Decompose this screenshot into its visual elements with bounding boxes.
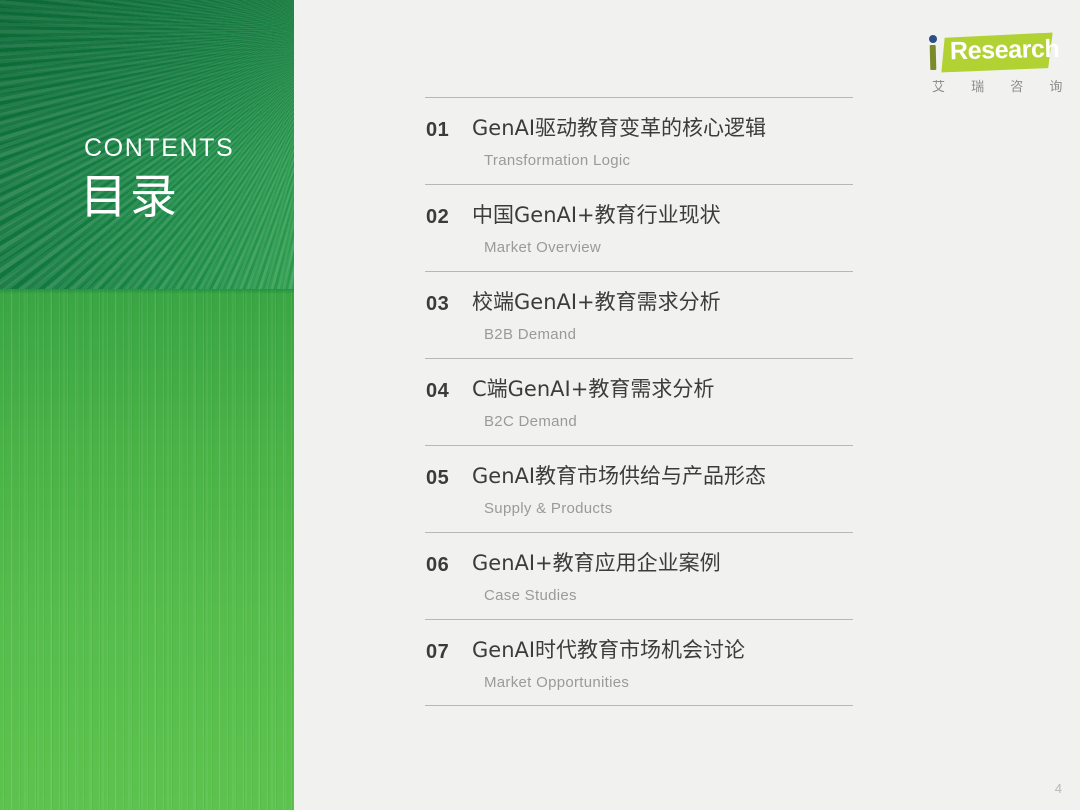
contents-title-en: CONTENTS [84,136,234,161]
panel-heading-group: CONTENTS 目录 [84,136,234,221]
logo-wordmark: Research [950,37,1060,64]
slide-canvas: CONTENTS 目录 Research 艾 瑞 咨 询 01 GenAI驱动教… [0,0,1080,810]
contents-title-cn: 目录 [80,174,234,221]
toc-item-title-cn: GenAI时代教育市场机会讨论 [472,637,745,663]
toc-item-title-en: Case Studies [484,588,577,603]
toc-item-number: 06 [426,555,449,575]
toc-item-title-cn: C端GenAI+教育需求分析 [472,376,714,402]
toc-item-01[interactable]: 01 GenAI驱动教育变革的核心逻辑 Transformation Logic [425,97,853,184]
panel-seam-shadow [0,289,294,294]
toc-item-number: 04 [426,381,449,401]
vertical-stripes-pattern-secondary [0,289,294,810]
toc-item-title-cn: 中国GenAI+教育行业现状 [472,202,721,228]
toc-item-title-en: Transformation Logic [484,153,630,168]
page-number: 4 [1055,781,1062,796]
toc-item-number: 07 [426,642,449,662]
toc-item-05[interactable]: 05 GenAI教育市场供给与产品形态 Supply & Products [425,445,853,532]
toc-item-title-cn: GenAI+教育应用企业案例 [472,550,721,576]
iresearch-logo: Research 艾 瑞 咨 询 [924,32,1052,100]
table-of-contents: 01 GenAI驱动教育变革的核心逻辑 Transformation Logic… [425,97,853,706]
logo-mark: Research [924,32,1052,74]
toc-item-title-cn: 校端GenAI+教育需求分析 [472,289,721,315]
toc-item-06[interactable]: 06 GenAI+教育应用企业案例 Case Studies [425,532,853,619]
toc-item-02[interactable]: 02 中国GenAI+教育行业现状 Market Overview [425,184,853,271]
panel-bottom-bright-green [0,289,294,810]
logo-subtitle-cn: 艾 瑞 咨 询 [932,76,1073,95]
left-decorative-panel: CONTENTS 目录 [0,0,294,810]
toc-item-title-cn: GenAI教育市场供给与产品形态 [472,463,766,489]
toc-item-number: 01 [426,120,449,140]
toc-item-number: 02 [426,207,449,227]
toc-item-title-en: B2C Demand [484,414,577,429]
toc-item-title-en: Market Overview [484,240,601,255]
toc-item-04[interactable]: 04 C端GenAI+教育需求分析 B2C Demand [425,358,853,445]
toc-item-title-en: Supply & Products [484,501,613,516]
toc-item-title-en: B2B Demand [484,327,576,342]
logo-letter-i-stem [930,45,937,70]
logo-letter-i-dot-icon [929,35,937,43]
toc-item-07[interactable]: 07 GenAI时代教育市场机会讨论 Market Opportunities [425,619,853,706]
toc-item-number: 05 [426,468,449,488]
toc-item-number: 03 [426,294,449,314]
toc-item-title-en: Market Opportunities [484,675,629,690]
toc-item-title-cn: GenAI驱动教育变革的核心逻辑 [472,115,766,141]
toc-item-03[interactable]: 03 校端GenAI+教育需求分析 B2B Demand [425,271,853,358]
